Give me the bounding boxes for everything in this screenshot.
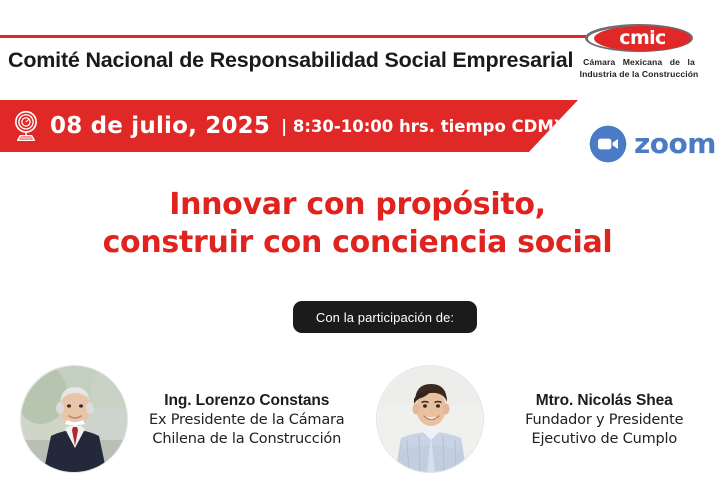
speaker-info: Mtro. Nicolás Shea Fundador y Presidente… [484,365,715,449]
page-title: Comité Nacional de Responsabilidad Socia… [8,48,568,73]
speaker-role-line2: Chilena de la Construcción [142,430,352,449]
cmic-subtitle: Cámara Mexicana de la Industria de la Co… [566,56,712,80]
event-title-line1: Innovar con propósito, [0,186,715,224]
header-divider-rule [0,35,586,38]
webinar-poster: Comité Nacional de Responsabilidad Socia… [0,0,715,500]
speaker-name: Mtro. Nicolás Shea [498,391,712,411]
video-camera-icon [588,124,628,164]
cmic-wordmark: cmic [594,26,691,51]
speaker-card: Mtro. Nicolás Shea Fundador y Presidente… [358,363,715,488]
speaker-role: Ex Presidente de la Cámara Chilena de la… [142,411,352,449]
date-time-banner: 08 de julio, 2025 | 8:30-10:00 hrs. tiem… [0,100,578,152]
event-title: Innovar con propósito, construir con con… [0,186,715,262]
speaker-role: Fundador y Presidente Ejecutivo de Cumpl… [498,411,712,449]
speaker-card: Ing. Lorenzo Constans Ex Presidente de l… [0,363,358,488]
participation-label: Con la participación de: [316,310,454,325]
speaker-portrait-lorenzo-constans [20,365,128,473]
speaker-info: Ing. Lorenzo Constans Ex Presidente de l… [128,365,358,449]
speakers-section: Ing. Lorenzo Constans Ex Presidente de l… [0,363,715,488]
speaker-role-line1: Fundador y Presidente [498,411,712,430]
event-date: 08 de julio, 2025 [50,113,270,139]
zoom-logo: zoom [588,124,715,164]
cmic-subtitle-line2: Industria de la Construcción [566,68,712,80]
event-title-line2: construir con conciencia social [0,224,715,262]
speaker-role-line2: Ejecutivo de Cumplo [498,430,712,449]
cmic-subtitle-line1: Cámara Mexicana de la [566,56,712,68]
speaker-name: Ing. Lorenzo Constans [142,391,352,411]
cmic-logo: cmic Cámara Mexicana de la Industria de … [566,24,712,84]
event-time: | 8:30-10:00 hrs. tiempo CDMX [281,117,566,136]
participation-badge: Con la participación de: [293,301,477,333]
zoom-wordmark: zoom [634,130,715,158]
webcam-icon [8,108,44,144]
cmic-logo-icon: cmic [585,24,693,52]
speaker-role-line1: Ex Presidente de la Cámara [142,411,352,430]
speaker-portrait-nicolas-shea [376,365,484,473]
